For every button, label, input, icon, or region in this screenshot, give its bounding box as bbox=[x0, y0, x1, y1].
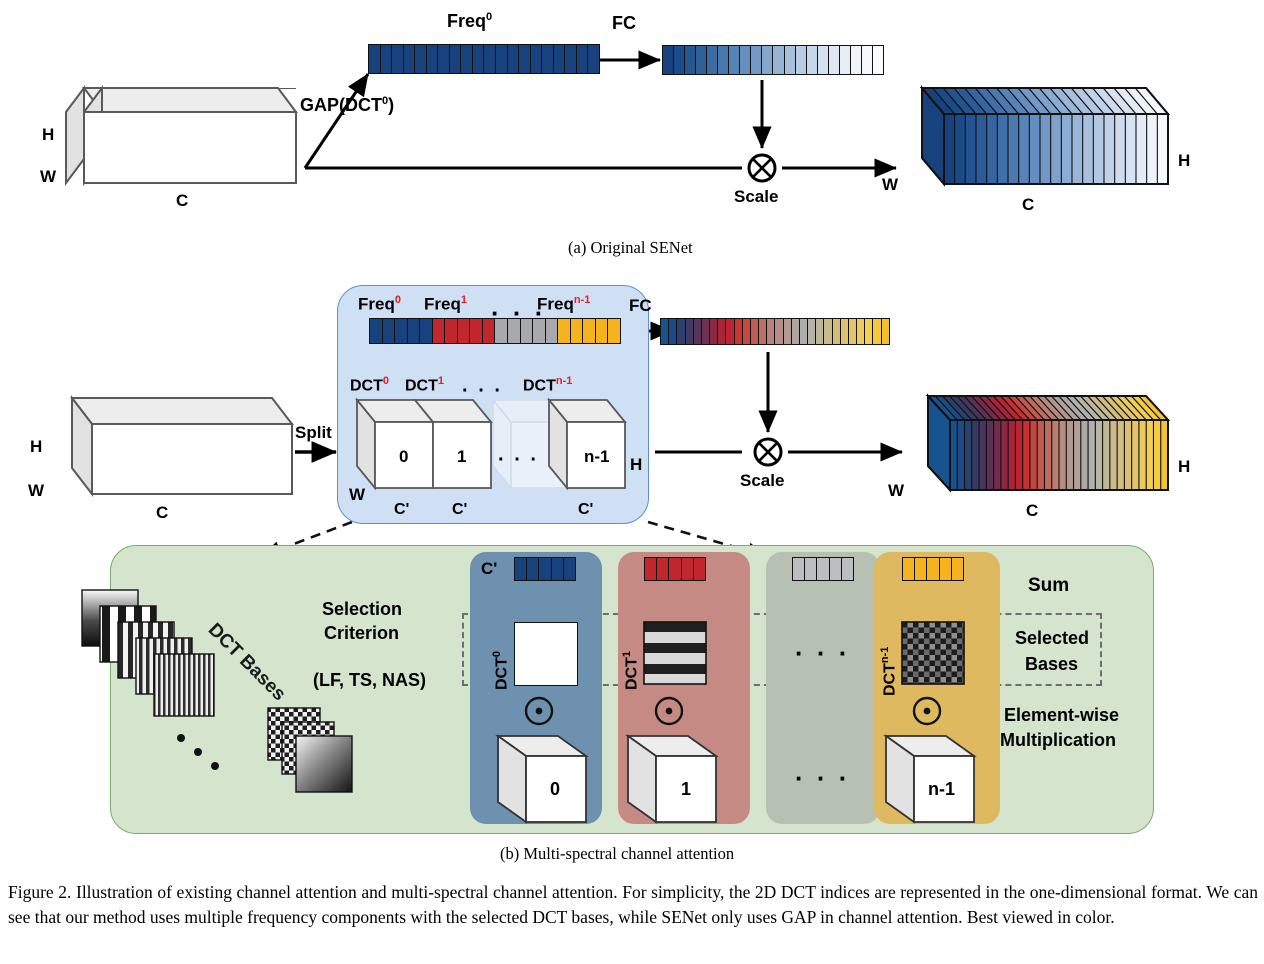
panel-a-fc-output-bar-cell-19 bbox=[873, 46, 883, 74]
panel-a-fc-output-bar-cell-5 bbox=[718, 46, 729, 74]
panel-a-fc-output-bar-cell-18 bbox=[862, 46, 873, 74]
panel-b-fc-output-bar-cell-3 bbox=[686, 319, 694, 344]
panel-a-output-h-label: H bbox=[1178, 152, 1190, 169]
panel-a-freq-bar-cell-3 bbox=[404, 45, 416, 73]
panel-a-freq-bar-cell-5 bbox=[427, 45, 439, 73]
panel-b-freq-bar-cell-8 bbox=[470, 319, 483, 343]
column-gold-frequency-bar-cell-4 bbox=[952, 558, 963, 580]
panel-a-gap-dct-text: GAP(DCT bbox=[300, 95, 382, 115]
panel-b-freq-bar-cell-0 bbox=[370, 319, 383, 343]
panel-b-output-tensor-front-slice-6 bbox=[994, 420, 1002, 490]
panel-b-output-tensor-front-slice-25 bbox=[1132, 420, 1140, 490]
column-red-frequency-bar bbox=[644, 557, 706, 581]
panel-a-fc-output-bar-cell-17 bbox=[851, 46, 862, 74]
panel-b-fc-output-bar-cell-1 bbox=[669, 319, 677, 344]
panel-a-input-h-label: H bbox=[42, 126, 54, 143]
panel-b-freq-bar-cell-9 bbox=[483, 319, 496, 343]
panel-b-freq-superscript-1: 1 bbox=[461, 294, 467, 306]
panel-a-freq-superscript: 0 bbox=[486, 11, 492, 23]
panel-b-cprime-label-2: C' bbox=[578, 502, 593, 518]
panel-a-fc-output-bar-cell-15 bbox=[829, 46, 840, 74]
panel-b-freq-bar-cell-12 bbox=[521, 319, 534, 343]
panel-b-dct-superscript-1: 1 bbox=[438, 375, 444, 387]
panel-b-output-tensor-front-slice-20 bbox=[1095, 420, 1103, 490]
panel-b-output-tensor-front-slice-10 bbox=[1023, 420, 1031, 490]
column-blue-frequency-bar-cell-3 bbox=[552, 558, 564, 580]
column-red-frequency-bar-cell-0 bbox=[645, 558, 657, 580]
column-blue-dct-superscript: 0 bbox=[491, 651, 503, 657]
column-gold-frequency-bar-cell-1 bbox=[915, 558, 927, 580]
panel-b-dct-text-0: DCT bbox=[350, 377, 383, 394]
panel-a-output-tensor-front-slice-17 bbox=[1125, 114, 1136, 184]
panel-b-input-h-label: H bbox=[30, 438, 42, 455]
panel-b-fc-output-bar bbox=[660, 318, 890, 345]
panel-a-fc-output-bar-cell-12 bbox=[796, 46, 807, 74]
panel-a-freq-bar-cell-11 bbox=[496, 45, 508, 73]
panel-b-output-tensor-front-slice-22 bbox=[1110, 420, 1118, 490]
panel-a-fc-output-bar-cell-10 bbox=[773, 46, 784, 74]
panel-b-fc-label: FC bbox=[629, 297, 652, 314]
panel-b-output-tensor-front-slice-18 bbox=[1081, 420, 1089, 490]
column-blue-feature-cube bbox=[496, 734, 588, 822]
panel-b-output-tensor-front-slice-13 bbox=[1044, 420, 1052, 490]
panel-a-fc-output-bar-cell-13 bbox=[807, 46, 818, 74]
column-red-basis-image bbox=[644, 622, 706, 684]
panel-b-split-cube-label-2: n-1 bbox=[584, 448, 610, 465]
panel-b-dct-label-0: DCT0 bbox=[350, 376, 389, 394]
panel-b-freq-bar-cell-14 bbox=[546, 319, 559, 343]
panel-a-freq-text: Freq bbox=[447, 11, 486, 31]
selection-criterion-title-line2: Criterion bbox=[324, 624, 399, 642]
panel-a-fc-output-bar bbox=[662, 45, 884, 75]
panel-a-output-tensor-front-slice-12 bbox=[1072, 114, 1083, 184]
panel-b-freq-superscript-2: n-1 bbox=[574, 294, 591, 306]
panel-a-fc-output-bar-cell-8 bbox=[751, 46, 762, 74]
panel-b-freq-label-2: Freqn-1 bbox=[537, 295, 590, 313]
panel-b-freq-bar-cell-2 bbox=[395, 319, 408, 343]
panel-a-output-c-label: C bbox=[1022, 196, 1034, 213]
panel-b-fc-output-bar-cell-25 bbox=[865, 319, 873, 344]
panel-a-input-c-label: C bbox=[176, 192, 188, 209]
panel-b-fc-output-bar-cell-7 bbox=[718, 319, 726, 344]
panel-b-fc-output-bar-cell-11 bbox=[751, 319, 759, 344]
panel-b-freq-bar-cell-10 bbox=[495, 319, 508, 343]
panel-a-output-tensor-front-slice-9 bbox=[1040, 114, 1051, 184]
panel-b-output-tensor-front-slice-24 bbox=[1124, 420, 1132, 490]
dct-bases-label: DCT Bases bbox=[218, 620, 318, 639]
panel-a-fc-output-bar-cell-6 bbox=[729, 46, 740, 74]
panel-b-freq-bar-cell-16 bbox=[571, 319, 584, 343]
panel-a-output-tensor-front-slice-7 bbox=[1019, 114, 1030, 184]
panel-a-freq-bar-cell-1 bbox=[381, 45, 393, 73]
column-gold-dct-superscript: n-1 bbox=[879, 647, 891, 664]
selection-criterion-title-line1: Selection bbox=[322, 600, 402, 618]
panel-b-output-tensor-front-slice-4 bbox=[979, 420, 987, 490]
selected-bases-label-line2: Bases bbox=[1025, 655, 1078, 673]
panel-b-output-tensor-front-slice-15 bbox=[1059, 420, 1067, 490]
panel-b-fc-output-bar-cell-20 bbox=[824, 319, 832, 344]
panel-b-split-label: Split bbox=[295, 424, 332, 441]
panel-a-output-tensor-front-slice-4 bbox=[987, 114, 998, 184]
panel-a-output-tensor-front-slice-18 bbox=[1136, 114, 1147, 184]
panel-a-fc-output-bar-cell-14 bbox=[818, 46, 829, 74]
panel-b-output-tensor-front-slice-5 bbox=[986, 420, 994, 490]
panel-b-split-cube-label-1: 1 bbox=[457, 448, 466, 465]
column-gray-frequency-bar-cell-2 bbox=[817, 558, 829, 580]
panel-b-freq-bar-cell-15 bbox=[558, 319, 571, 343]
panel-a-freq-bar-cell-7 bbox=[450, 45, 462, 73]
panel-b-fc-output-bar-cell-22 bbox=[841, 319, 849, 344]
panel-a-fc-label: FC bbox=[612, 14, 636, 32]
column-blue-cprime-label: C' bbox=[481, 560, 497, 577]
panel-a-output-tensor-front-slice-1 bbox=[955, 114, 966, 184]
column-red-dct-text: DCT bbox=[623, 657, 640, 690]
panel-b-dct-text-1: DCT bbox=[405, 377, 438, 394]
panel-a-output-tensor-front-slice-10 bbox=[1051, 114, 1062, 184]
column-gold-hadamard-icon bbox=[910, 694, 944, 728]
panel-a-fc-output-bar-cell-2 bbox=[685, 46, 696, 74]
panel-b-freq-bar-cell-1 bbox=[383, 319, 396, 343]
panel-b-output-tensor-front-slice-23 bbox=[1117, 420, 1125, 490]
panel-a-fc-output-bar-cell-16 bbox=[840, 46, 851, 74]
column-red-dct-superscript: 1 bbox=[621, 651, 633, 657]
panel-b-output-tensor-front-slice-27 bbox=[1146, 420, 1154, 490]
column-gray-frequency-bar-cell-0 bbox=[793, 558, 805, 580]
panel-b-freq-bar-cell-13 bbox=[533, 319, 546, 343]
panel-b-fc-output-bar-cell-23 bbox=[849, 319, 857, 344]
panel-a-fc-output-bar-cell-4 bbox=[707, 46, 718, 74]
panel-a-output-tensor-front-slice-2 bbox=[965, 114, 976, 184]
panel-b-output-tensor-front-slice-3 bbox=[972, 420, 980, 490]
panel-a-output-tensor-front-slice-5 bbox=[997, 114, 1008, 184]
panel-a-output-tensor-front-slice-6 bbox=[1008, 114, 1019, 184]
panel-b-freq-text-2: Freq bbox=[537, 295, 574, 314]
panel-a-fc-output-bar-cell-0 bbox=[663, 46, 674, 74]
column-red-frequency-bar-cell-1 bbox=[657, 558, 669, 580]
panel-b-output-tensor-front-slice-0 bbox=[950, 420, 958, 490]
column-gold-feature-cube bbox=[884, 734, 976, 822]
panel-b-fc-output-bar-cell-2 bbox=[677, 319, 685, 344]
figure-caption: Figure 2. Illustration of existing chann… bbox=[8, 880, 1258, 931]
column-blue-frequency-bar-cell-2 bbox=[539, 558, 551, 580]
column-blue-cube-label: 0 bbox=[550, 780, 560, 798]
panel-a-freq-bar-cell-8 bbox=[461, 45, 473, 73]
panel-b-dct-label-1: DCT1 bbox=[405, 376, 444, 394]
panel-b-freq-bar-cell-18 bbox=[596, 319, 609, 343]
panel-a-fc-output-bar-cell-11 bbox=[785, 46, 796, 74]
column-blue-basis-image bbox=[514, 622, 578, 686]
panel-a-freq-bar-cell-2 bbox=[392, 45, 404, 73]
panel-b-freq-bar-cell-7 bbox=[458, 319, 471, 343]
panel-b-fc-output-bar-cell-5 bbox=[702, 319, 710, 344]
panel-b-cprime-label-0: C' bbox=[394, 502, 409, 518]
selection-criterion-subtitle: (LF, TS, NAS) bbox=[313, 671, 426, 689]
panel-b-dct-superscript-0: 0 bbox=[383, 375, 389, 387]
panel-b-split-w-label: W bbox=[349, 486, 365, 503]
panel-a-output-tensor-front-slice-19 bbox=[1147, 114, 1158, 184]
panel-b-scale-label: Scale bbox=[740, 472, 784, 489]
panel-b-freq-bar-cell-3 bbox=[408, 319, 421, 343]
panel-a-output-tensor-front-slice-3 bbox=[976, 114, 987, 184]
column-gold-dct-text: DCT bbox=[881, 663, 898, 696]
column-gold-frequency-bar-cell-2 bbox=[927, 558, 939, 580]
panel-a-output-tensor-front-slice-14 bbox=[1093, 114, 1104, 184]
panel-a-output-tensor-front-slice-20 bbox=[1157, 114, 1168, 184]
panel-b-fc-output-bar-cell-19 bbox=[816, 319, 824, 344]
panel-b-freq-bar-cell-19 bbox=[608, 319, 620, 343]
panel-b-output-tensor-front-slice-11 bbox=[1030, 420, 1038, 490]
elementwise-label-line2: Multiplication bbox=[1000, 731, 1116, 749]
column-gold-cube-label: n-1 bbox=[928, 780, 955, 798]
panel-b-freq-bar-cell-5 bbox=[433, 319, 446, 343]
panel-b-output-tensor-front-slice-8 bbox=[1008, 420, 1016, 490]
panel-a-scale-label: Scale bbox=[734, 188, 778, 205]
panel-a-freq-bar-cell-13 bbox=[519, 45, 531, 73]
panel-b-freq-bar-cell-4 bbox=[420, 319, 433, 343]
panel-a-sub-caption: (a) Original SENet bbox=[568, 238, 693, 258]
panel-b-freq-label-0: Freq0 bbox=[358, 295, 401, 313]
column-gray-frequency-bar bbox=[792, 557, 854, 581]
panel-b-fc-output-bar-cell-15 bbox=[784, 319, 792, 344]
panel-a-freq-bar-cell-15 bbox=[542, 45, 554, 73]
panel-b-output-tensor-front-slice-26 bbox=[1139, 420, 1147, 490]
sum-label: Sum bbox=[1028, 576, 1069, 595]
panel-b-output-tensor-front-slice-19 bbox=[1088, 420, 1096, 490]
panel-a-freq-bar-cell-12 bbox=[508, 45, 520, 73]
panel-b-fc-output-bar-cell-21 bbox=[833, 319, 841, 344]
panel-b-input-c-label: C bbox=[156, 504, 168, 521]
column-gray-frequency-bar-cell-4 bbox=[842, 558, 853, 580]
panel-b-sub-caption: (b) Multi-spectral channel attention bbox=[500, 844, 734, 864]
column-gold-frequency-bar-cell-0 bbox=[903, 558, 915, 580]
panel-b-output-tensor bbox=[906, 396, 1168, 494]
panel-b-dct-text-2: DCT bbox=[523, 377, 556, 394]
panel-b-output-w-label: W bbox=[888, 482, 904, 499]
panel-b-freq-bar-cell-6 bbox=[445, 319, 458, 343]
panel-a-input-w-label: W bbox=[40, 168, 56, 185]
column-blue-frequency-bar-cell-4 bbox=[564, 558, 575, 580]
panel-b-input-tensor bbox=[52, 398, 292, 498]
panel-b-dct-superscript-2: n-1 bbox=[556, 375, 573, 387]
panel-a-freq-bar-cell-4 bbox=[415, 45, 427, 73]
panel-a-freq-bar-cell-17 bbox=[565, 45, 577, 73]
panel-b-fc-output-bar-cell-0 bbox=[661, 319, 669, 344]
panel-b-freq-bar-cell-11 bbox=[508, 319, 521, 343]
panel-b-freq-label-1: Freq1 bbox=[424, 295, 467, 313]
panel-b-fc-output-bar-cell-18 bbox=[808, 319, 816, 344]
panel-b-output-tensor-front-slice-7 bbox=[1001, 420, 1009, 490]
panel-b-split-h-label: H bbox=[630, 456, 642, 473]
panel-b-fc-output-bar-cell-4 bbox=[694, 319, 702, 344]
panel-a-fc-output-bar-cell-1 bbox=[674, 46, 685, 74]
panel-a-freq-bar-cell-9 bbox=[473, 45, 485, 73]
column-gold-frequency-bar-cell-3 bbox=[940, 558, 952, 580]
panel-b-fc-output-bar-cell-10 bbox=[743, 319, 751, 344]
panel-b-output-tensor-front-slice-12 bbox=[1037, 420, 1045, 490]
panel-a-input-tensor bbox=[66, 88, 296, 183]
panel-b-split-cube-label-0: 0 bbox=[399, 448, 408, 465]
column-blue-frequency-bar bbox=[514, 557, 576, 581]
column-red-cube-label: 1 bbox=[681, 780, 691, 798]
column-blue-frequency-bar-cell-0 bbox=[515, 558, 527, 580]
panel-b-fc-output-bar-cell-13 bbox=[767, 319, 775, 344]
panel-a-freq-bar-cell-16 bbox=[554, 45, 566, 73]
column-gray-ellipsis-bottom: · · · bbox=[795, 765, 850, 791]
panel-b-freq-bar bbox=[369, 318, 621, 344]
panel-b-fc-output-bar-cell-9 bbox=[735, 319, 743, 344]
column-gray-frequency-bar-cell-1 bbox=[805, 558, 817, 580]
column-gray-frequency-bar-cell-3 bbox=[830, 558, 842, 580]
figure-2-multi-spectral-channel-attention: H W C GAP(DCT0) Freq0 FC Scale H W C (a)… bbox=[0, 0, 1264, 964]
panel-a-output-tensor-front-slice-13 bbox=[1083, 114, 1094, 184]
panel-b-freq-bar-cell-17 bbox=[583, 319, 596, 343]
panel-b-input-w-label: W bbox=[28, 482, 44, 499]
panel-b-split-cube-ellipsis: · · · bbox=[498, 450, 539, 470]
panel-a-freq-bar-cell-18 bbox=[577, 45, 589, 73]
panel-a-fc-output-bar-cell-7 bbox=[740, 46, 751, 74]
panel-b-fc-output-bar-cell-8 bbox=[726, 319, 734, 344]
panel-a-output-w-label: W bbox=[882, 176, 898, 193]
column-blue-hadamard-icon bbox=[522, 694, 556, 728]
panel-a-freq-bar-cell-0 bbox=[369, 45, 381, 73]
panel-a-freq-bar-cell-19 bbox=[588, 45, 599, 73]
selected-bases-label-line1: Selected bbox=[1015, 629, 1089, 647]
panel-a-fc-output-bar-cell-3 bbox=[696, 46, 707, 74]
panel-a-freq-bar-cell-6 bbox=[438, 45, 450, 73]
panel-b-output-tensor-front-slice-9 bbox=[1015, 420, 1023, 490]
panel-a-gap-dct-paren: ) bbox=[388, 95, 394, 115]
panel-b-freq-superscript-0: 0 bbox=[395, 294, 401, 306]
column-blue-frequency-bar-cell-1 bbox=[527, 558, 539, 580]
panel-b-output-tensor-front-slice-17 bbox=[1074, 420, 1082, 490]
panel-b-output-tensor-front-slice-28 bbox=[1153, 420, 1161, 490]
panel-a-output-tensor-front-slice-8 bbox=[1029, 114, 1040, 184]
panel-a-freq-bar bbox=[368, 44, 600, 74]
column-gold-frequency-bar bbox=[902, 557, 964, 581]
panel-a-output-tensor-front-slice-15 bbox=[1104, 114, 1115, 184]
panel-b-fc-output-bar-cell-14 bbox=[775, 319, 783, 344]
panel-b-fc-output-bar-cell-17 bbox=[800, 319, 808, 344]
panel-b-output-tensor-front-slice-2 bbox=[965, 420, 973, 490]
column-red-frequency-bar-cell-3 bbox=[682, 558, 694, 580]
panel-b-output-h-label: H bbox=[1178, 458, 1190, 475]
panel-b-freq-text-1: Freq bbox=[424, 295, 461, 314]
column-red-feature-cube bbox=[626, 734, 718, 822]
panel-b-fc-output-bar-cell-26 bbox=[873, 319, 881, 344]
panel-b-fc-output-bar-cell-12 bbox=[759, 319, 767, 344]
panel-a-freq-bar-cell-10 bbox=[484, 45, 496, 73]
panel-a-output-tensor bbox=[900, 88, 1168, 188]
panel-b-output-tensor-front-slice-21 bbox=[1103, 420, 1111, 490]
panel-b-output-tensor-front-slice-16 bbox=[1066, 420, 1074, 490]
column-gold-basis-image bbox=[902, 622, 964, 684]
panel-a-output-tensor-front-slice-0 bbox=[944, 114, 955, 184]
elementwise-label-line1: Element-wise bbox=[1004, 706, 1119, 724]
panel-b-freq-text-0: Freq bbox=[358, 295, 395, 314]
panel-b-fc-output-bar-cell-24 bbox=[857, 319, 865, 344]
column-red-frequency-bar-cell-4 bbox=[694, 558, 705, 580]
panel-b-fc-output-bar-cell-6 bbox=[710, 319, 718, 344]
panel-b-split-cubes bbox=[355, 398, 625, 490]
panel-b-dct-label-2: DCTn-1 bbox=[523, 376, 572, 394]
panel-a-gap-dct-label: GAP(DCT0) bbox=[300, 96, 394, 114]
panel-b-fc-output-bar-cell-16 bbox=[792, 319, 800, 344]
panel-b-cprime-label-1: C' bbox=[452, 502, 467, 518]
panel-b-output-tensor-front-slice-14 bbox=[1052, 420, 1060, 490]
column-red-frequency-bar-cell-2 bbox=[669, 558, 681, 580]
panel-a-output-tensor-front-slice-11 bbox=[1061, 114, 1072, 184]
column-red-hadamard-icon bbox=[652, 694, 686, 728]
panel-b-fc-output-bar-cell-27 bbox=[882, 319, 889, 344]
panel-b-output-c-label: C bbox=[1026, 502, 1038, 519]
panel-a-output-tensor-front-slice-16 bbox=[1115, 114, 1126, 184]
column-gray-ellipsis-top: · · · bbox=[795, 640, 850, 666]
panel-a-fc-output-bar-cell-9 bbox=[762, 46, 773, 74]
panel-b-output-tensor-front-slice-1 bbox=[957, 420, 965, 490]
panel-a-freq-label: Freq0 bbox=[447, 12, 492, 30]
panel-a-freq-bar-cell-14 bbox=[531, 45, 543, 73]
column-blue-dct-text: DCT bbox=[493, 657, 510, 690]
